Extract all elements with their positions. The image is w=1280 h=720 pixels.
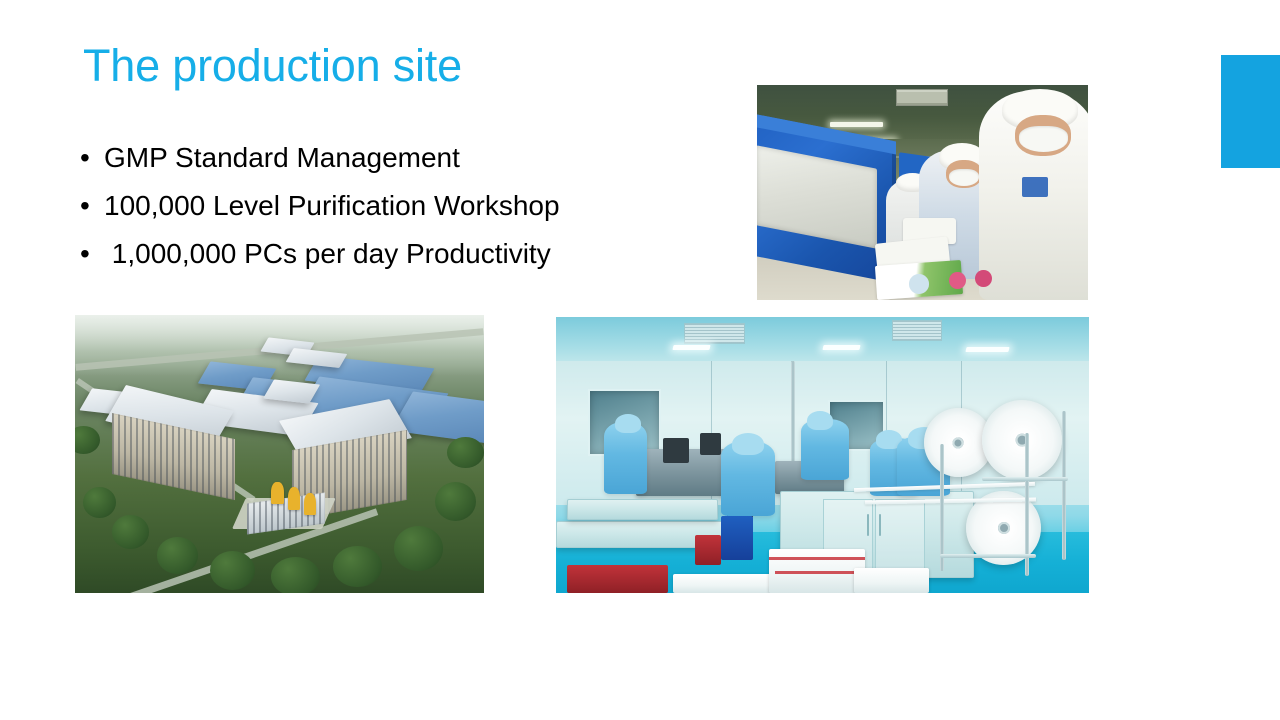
entrance-sculpture — [304, 493, 316, 515]
product-stripe — [775, 571, 860, 574]
cabinet-handle[interactable] — [867, 514, 869, 536]
work-table — [567, 499, 718, 520]
cabinet-handle[interactable] — [879, 514, 881, 536]
machine-component — [700, 433, 721, 455]
structural-pole — [791, 361, 795, 471]
page-title: The production site — [83, 39, 462, 93]
presentation-slide: The production site • GMP Standard Manag… — [0, 0, 1280, 720]
list-item: • 100,000 Level Purification Workshop — [80, 182, 740, 230]
blue-bin — [721, 516, 753, 560]
bullet-marker-icon: • — [80, 182, 104, 230]
roll-core — [998, 522, 1010, 534]
ceiling-light — [966, 347, 1010, 352]
bullet-marker-icon: • — [80, 230, 104, 278]
entrance-sculpture — [271, 482, 283, 504]
ceiling-light — [822, 345, 861, 350]
list-item: • GMP Standard Management — [80, 134, 740, 182]
mask-production-line-photo — [556, 317, 1089, 593]
product-stack — [854, 568, 929, 593]
bullet-text: 100,000 Level Purification Workshop — [104, 182, 560, 230]
red-bin — [695, 535, 722, 565]
ceiling — [556, 317, 1089, 367]
ceiling-vent — [684, 323, 745, 344]
worker-hood — [732, 433, 764, 455]
tree — [271, 557, 320, 593]
tree — [394, 526, 443, 570]
ceiling-vent — [892, 320, 942, 341]
tree — [75, 426, 100, 454]
accent-rectangle — [1221, 55, 1280, 168]
cabinet-door[interactable] — [875, 499, 925, 573]
bullet-text: 1,000,000 PCs per day Productivity — [104, 230, 551, 278]
tree — [447, 437, 484, 468]
tree — [210, 551, 255, 590]
leaflet-stamp — [949, 272, 966, 289]
roll-stand-rail — [982, 477, 1067, 481]
roll-stand-rail — [940, 554, 1036, 558]
face-mask — [1019, 126, 1069, 152]
entrance-sculpture — [288, 487, 300, 509]
ceiling-light — [830, 122, 883, 127]
uniform-logo — [1022, 177, 1048, 196]
aerial-factory-photo — [75, 315, 484, 593]
ceiling-light — [673, 345, 712, 350]
worker-hood — [807, 411, 834, 430]
tree — [157, 537, 198, 573]
face-mask — [949, 169, 979, 186]
roll-core — [953, 437, 964, 448]
list-item: • 1,000,000 PCs per day Productivity — [80, 230, 740, 278]
crate-contents — [757, 145, 877, 248]
tree — [83, 487, 116, 518]
leaflet-stamp — [909, 274, 929, 293]
roll-stand-pole — [1062, 411, 1066, 560]
bullet-list: • GMP Standard Management • 100,000 Leve… — [80, 134, 740, 278]
tree — [435, 482, 476, 521]
machine-component — [663, 438, 690, 463]
red-bin — [567, 565, 668, 593]
product-stripe — [769, 557, 865, 560]
fabric-roll — [982, 400, 1062, 480]
worker-hood — [615, 414, 642, 433]
tree — [112, 515, 149, 548]
tree — [333, 546, 382, 588]
ceiling-vent — [896, 89, 948, 106]
bullet-marker-icon: • — [80, 134, 104, 182]
packaging-cleanroom-photo — [757, 85, 1088, 300]
leaflet-stamp — [975, 270, 992, 287]
bullet-text: GMP Standard Management — [104, 134, 460, 182]
roll-stand-pole — [940, 444, 944, 571]
